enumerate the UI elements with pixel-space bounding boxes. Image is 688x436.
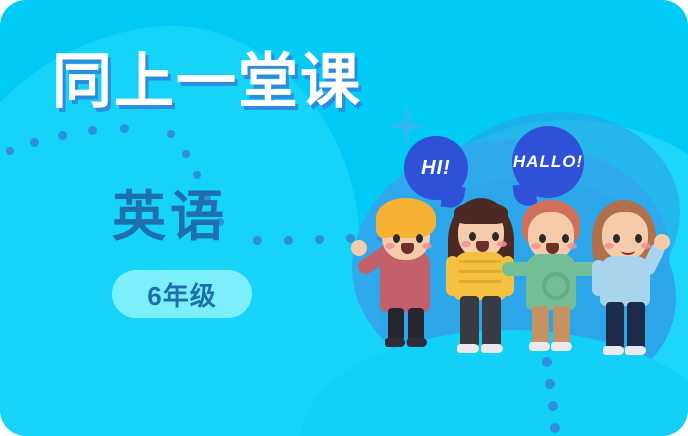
character-blush: [604, 243, 614, 249]
path-dot: [253, 236, 262, 245]
character-eye: [539, 234, 546, 243]
path-dot: [58, 131, 67, 140]
character-blush: [497, 241, 507, 247]
character-hand: [654, 234, 670, 250]
character-hand: [351, 240, 367, 256]
character-leg: [606, 302, 624, 350]
character-eye: [613, 234, 620, 243]
character-leg: [553, 306, 570, 346]
path-dot: [6, 147, 14, 155]
character-blush: [461, 241, 471, 247]
path-dot: [182, 150, 190, 158]
children-illustration: [354, 190, 674, 370]
character-blush: [385, 243, 395, 249]
character-torso: [600, 256, 650, 306]
page-title: 同上一堂课: [52, 52, 362, 112]
character-eye: [393, 234, 400, 243]
speech-bubble-hi-text: HI!: [421, 157, 451, 180]
subject-title: 英语: [112, 190, 228, 244]
character-bangs: [454, 202, 508, 224]
character-leg: [408, 308, 424, 342]
path-dot: [193, 171, 201, 179]
character-arm: [592, 260, 605, 296]
path-dot: [30, 138, 39, 147]
speech-bubble-hallo-text: HALLO!: [513, 152, 583, 172]
shirt-stripe: [454, 280, 506, 283]
character-leg: [627, 302, 645, 350]
path-dot: [315, 235, 324, 244]
character-arm: [446, 256, 459, 296]
character-blush: [567, 243, 577, 249]
path-dot: [167, 130, 175, 138]
path-dot: [548, 401, 558, 411]
path-dot: [120, 124, 129, 133]
lesson-poster-card: 同上一堂课 英语 6年级 HI! HALLO!: [0, 0, 688, 436]
shirt-stripe: [454, 270, 506, 273]
character-shoe: [407, 338, 427, 347]
character-blush: [531, 243, 541, 249]
character-leg: [460, 296, 479, 348]
path-dot: [545, 379, 555, 389]
character-shoe: [529, 342, 550, 351]
character-mouth: [621, 246, 635, 255]
character-leg: [482, 296, 501, 348]
character-blush: [422, 243, 432, 249]
shirt-logo: [542, 272, 570, 300]
character-leg: [388, 308, 404, 342]
character-shoe: [551, 342, 572, 351]
character-eye: [492, 232, 499, 241]
character-shoe: [457, 344, 479, 353]
grade-badge: 6年级: [112, 270, 252, 318]
character-eye: [562, 234, 569, 243]
path-dot: [550, 423, 560, 433]
character-shoe: [385, 338, 405, 347]
path-dot: [88, 126, 97, 135]
character-shoe: [603, 346, 624, 355]
character-eye: [635, 234, 642, 243]
character-shoe: [481, 344, 503, 353]
character-hair-side: [376, 214, 392, 238]
character-leg: [532, 306, 549, 346]
character-eye: [469, 232, 476, 241]
character-shoe: [625, 346, 646, 355]
path-dot: [284, 236, 293, 245]
character-eye: [416, 234, 423, 243]
shirt-stripe: [454, 260, 506, 263]
grade-badge-label: 6年级: [147, 276, 216, 313]
speech-bubble-hallo: HALLO!: [512, 126, 584, 198]
